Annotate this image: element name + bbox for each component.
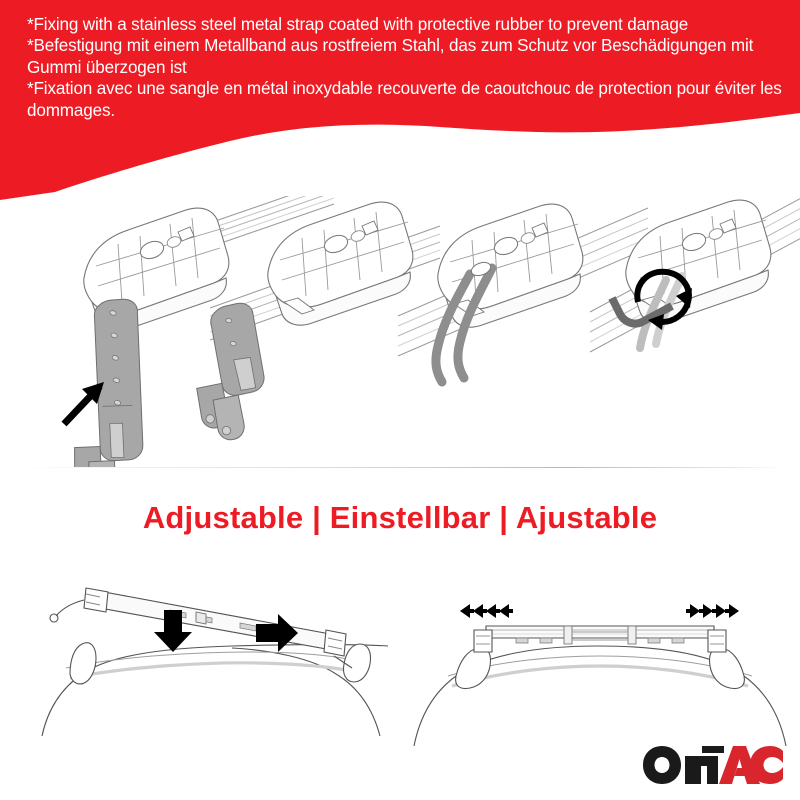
adjustability-illustration [0, 556, 800, 746]
logo-letter-o [643, 746, 681, 784]
assembly-steps-illustration [0, 196, 800, 468]
adjust-panel-left [42, 588, 388, 736]
banner-description-text: *Fixing with a stainless steel metal str… [27, 14, 787, 121]
triple-arrow-left-icon [460, 604, 513, 618]
product-info-page: *Fixing with a stainless steel metal str… [0, 0, 800, 800]
triple-arrow-right-icon [686, 604, 739, 618]
divider-line [18, 467, 782, 468]
red-banner: *Fixing with a stainless steel metal str… [0, 0, 800, 200]
section-divider [0, 466, 800, 470]
logo-letter-m [685, 756, 718, 784]
adjust-panel-right [414, 604, 786, 746]
arrow-right-icon [256, 614, 298, 652]
page-title: Adjustable | Einstellbar | Ajustable [0, 500, 800, 536]
assembly-step-3 [398, 204, 648, 382]
logo-overline [702, 746, 724, 753]
omac-logo [640, 742, 786, 788]
assembly-step-2 [190, 202, 440, 443]
